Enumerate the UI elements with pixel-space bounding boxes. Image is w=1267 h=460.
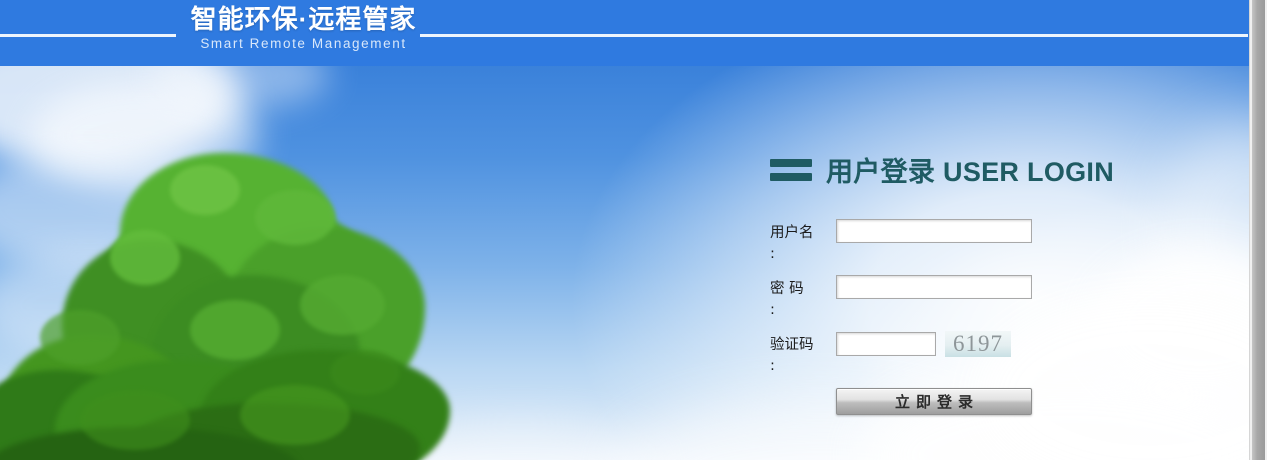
login-title-text: 用户登录 USER LOGIN	[826, 150, 1114, 189]
brand-title: 智能环保·远程管家	[186, 4, 421, 34]
password-label-colon: :	[770, 302, 775, 318]
captcha-input[interactable]	[836, 332, 936, 356]
password-input[interactable]	[836, 275, 1032, 299]
login-button[interactable]: 立即登录	[836, 388, 1032, 415]
page-header: 智能环保·远程管家 Smart Remote Management	[0, 0, 1250, 66]
username-field-wrap	[836, 219, 1032, 243]
header-divider-right	[420, 34, 1248, 37]
captcha-field-wrap: 6197	[836, 331, 1011, 357]
header-divider-left	[0, 34, 176, 37]
username-label: 用户名 :	[770, 219, 836, 265]
vertical-scrollbar[interactable]	[1249, 0, 1267, 460]
form-row-captcha: 验证码 : 6197	[770, 331, 1170, 377]
two-bars-icon	[770, 159, 812, 181]
username-input[interactable]	[836, 219, 1032, 243]
scrollbar-thumb[interactable]	[1252, 0, 1265, 460]
brand: 智能环保·远程管家 Smart Remote Management	[186, 4, 421, 53]
brand-subtitle: Smart Remote Management	[186, 35, 421, 53]
login-panel: 用户登录 USER LOGIN 用户名 : 密 码 : 验证	[770, 150, 1170, 415]
form-row-password: 密 码 :	[770, 275, 1170, 321]
login-page: 智能环保·远程管家 Smart Remote Management 用户登录 U…	[0, 0, 1267, 460]
username-label-text: 用户名	[770, 225, 814, 241]
tree-image	[0, 135, 470, 460]
captcha-image[interactable]: 6197	[945, 331, 1011, 357]
password-label-text: 密 码	[770, 281, 804, 297]
password-field-wrap	[836, 275, 1032, 299]
login-title-cn: 用户登录	[826, 157, 943, 187]
submit-row: 立即登录	[836, 388, 1170, 415]
login-title: 用户登录 USER LOGIN	[770, 150, 1170, 189]
username-label-colon: :	[770, 246, 775, 262]
login-title-en: USER LOGIN	[943, 157, 1114, 187]
password-label: 密 码 :	[770, 275, 836, 321]
captcha-label-colon: :	[770, 358, 775, 374]
form-row-username: 用户名 :	[770, 219, 1170, 265]
captcha-label-text: 验证码	[770, 337, 814, 353]
captcha-label: 验证码 :	[770, 331, 836, 377]
